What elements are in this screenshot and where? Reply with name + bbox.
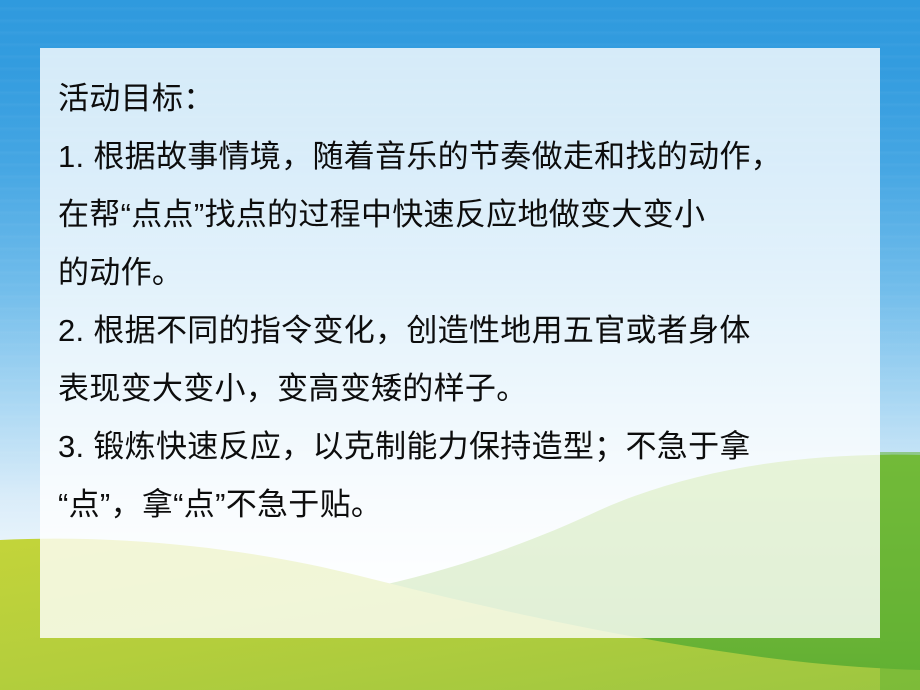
objective-1-line-2: 在帮“点点”找点的过程中快速反应地做变大变小 — [48, 186, 854, 244]
objective-1-line-3: 的动作。 — [48, 244, 854, 302]
objective-2-line-1: 2. 根据不同的指令变化，创造性地用五官或者身体 — [48, 302, 854, 360]
page-title: 活动目标： — [48, 70, 854, 128]
objectives-text-block: 活动目标： 1. 根据故事情境，随着音乐的节奏做走和找的动作， 在帮“点点”找点… — [48, 70, 854, 534]
hill-right-band — [880, 452, 920, 690]
content-panel: 活动目标： 1. 根据故事情境，随着音乐的节奏做走和找的动作， 在帮“点点”找点… — [40, 48, 880, 638]
objective-1-line-1: 1. 根据故事情境，随着音乐的节奏做走和找的动作， — [48, 128, 854, 186]
slide-canvas: 活动目标： 1. 根据故事情境，随着音乐的节奏做走和找的动作， 在帮“点点”找点… — [0, 0, 920, 690]
objective-2-line-2: 表现变大变小，变高变矮的样子。 — [48, 360, 854, 418]
objective-3-line-1: 3. 锻炼快速反应，以克制能力保持造型；不急于拿 — [48, 418, 854, 476]
objective-3-line-2: “点”，拿“点”不急于贴。 — [48, 476, 854, 534]
